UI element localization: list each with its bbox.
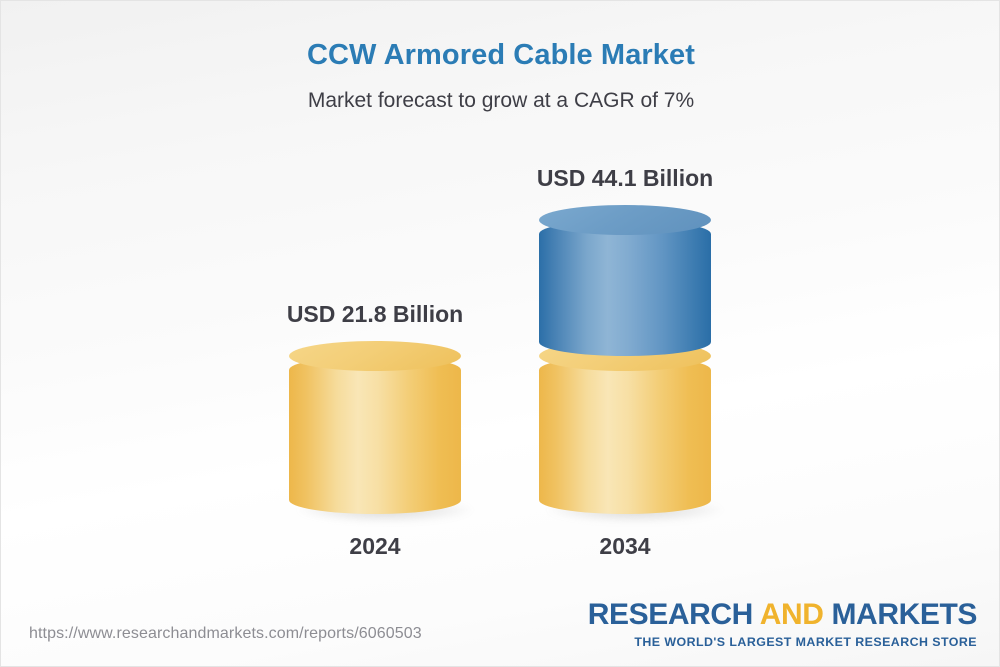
brand-logo: RESEARCH AND MARKETS THE WORLD'S LARGEST… bbox=[588, 600, 977, 648]
bar-2024[interactable] bbox=[289, 341, 461, 514]
bar-2034[interactable] bbox=[539, 205, 711, 514]
bar-body-2034-base bbox=[539, 356, 711, 514]
bar-segment-2034-growth bbox=[539, 205, 711, 356]
chart-title: CCW Armored Cable Market bbox=[1, 39, 1000, 72]
brand-and-text: AND bbox=[760, 598, 824, 631]
bar-segment-2034-base bbox=[539, 341, 711, 514]
chart-subtitle: Market forecast to grow at a CAGR of 7% bbox=[1, 89, 1000, 113]
category-label-2034: 2034 bbox=[505, 533, 745, 560]
plot-area: USD 21.8 Billion 2024 USD 44.1 Billion bbox=[1, 131, 1000, 591]
bar-body-2024 bbox=[289, 356, 461, 514]
category-label-2024: 2024 bbox=[255, 533, 495, 560]
bar-body-2034-growth bbox=[539, 220, 711, 356]
value-label-2024: USD 21.8 Billion bbox=[255, 301, 495, 328]
brand-markets-text: MARKETS bbox=[824, 598, 977, 631]
bar-top-cap-2024 bbox=[289, 341, 461, 371]
value-label-2034: USD 44.1 Billion bbox=[505, 165, 745, 192]
brand-research-text: RESEARCH bbox=[588, 598, 760, 631]
brand-wordmark: RESEARCH AND MARKETS bbox=[588, 600, 977, 630]
brand-tagline: THE WORLD'S LARGEST MARKET RESEARCH STOR… bbox=[588, 636, 977, 648]
chart-canvas: CCW Armored Cable Market Market forecast… bbox=[0, 0, 1000, 667]
source-url[interactable]: https://www.researchandmarkets.com/repor… bbox=[29, 625, 422, 643]
bar-cap-2034-growth bbox=[539, 205, 711, 235]
bar-segment-2024-base bbox=[289, 341, 461, 514]
